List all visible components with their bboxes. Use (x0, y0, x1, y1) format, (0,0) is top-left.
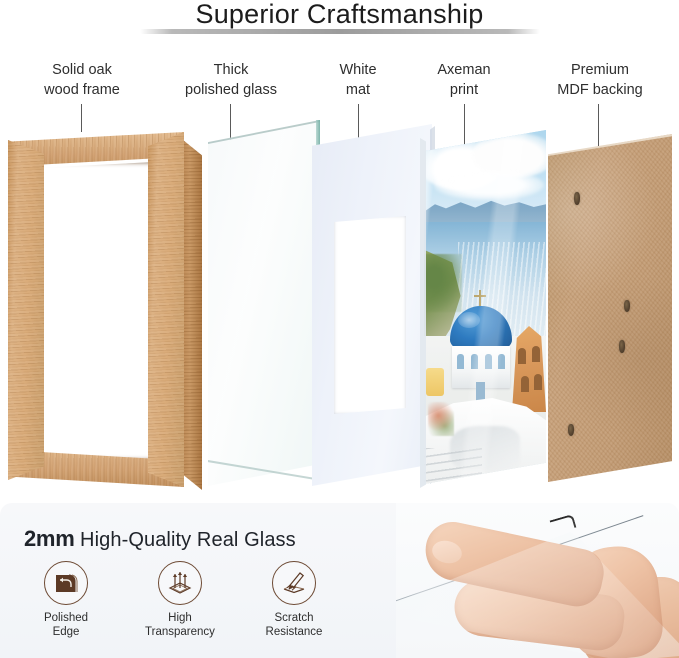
photo-bell-window (518, 348, 526, 364)
mdf-hanging-hardware (619, 340, 625, 353)
photo-cross (474, 295, 486, 297)
photo-bell-window (521, 376, 529, 392)
photo-flowers (428, 402, 454, 436)
mdf-hanging-hardware (624, 300, 630, 312)
layer-axeman-print (424, 130, 546, 484)
photo-bell-tower (512, 326, 546, 412)
feature-label: Scratch Resistance (252, 611, 336, 639)
glass-quality-panel: 2mm High-Quality Real Glass Polished Edg… (0, 503, 679, 658)
polished-edge-icon (44, 561, 88, 605)
print-photo (424, 130, 546, 484)
photo-vegetation (424, 254, 462, 312)
layer-polished-glass (208, 120, 320, 486)
callout-line-1: White (339, 62, 376, 78)
layer-white-mat (312, 124, 432, 486)
photo-church-window (498, 354, 505, 369)
photo-yellow-wall (426, 368, 444, 396)
feature-label-line-2: Edge (53, 626, 80, 638)
callout-line-1: Solid oak (52, 62, 112, 78)
high-transparency-icon (158, 561, 202, 605)
feature-label: High Transparency (138, 611, 222, 639)
glass-feature-list: Polished Edge High Transparency (24, 561, 336, 639)
photo-bell-window (532, 346, 540, 362)
layer-mdf-backing (548, 134, 672, 482)
callout-line-2: polished glass (156, 80, 306, 100)
callout-line-1: Premium (571, 62, 629, 78)
feature-label-line-2: Resistance (266, 626, 323, 638)
frame-stile-right (148, 132, 184, 487)
feature-label-line-1: Scratch (275, 612, 314, 624)
feature-label-line-1: Polished (44, 612, 88, 624)
exploded-frame-diagram (0, 110, 679, 495)
photo-dome-highlight (458, 312, 480, 328)
mdf-board (548, 134, 672, 482)
header: Superior Craftsmanship (0, 0, 679, 44)
scratch-resistance-icon (272, 561, 316, 605)
glass-headline: 2mm High-Quality Real Glass (24, 527, 296, 552)
photo-church-window (457, 354, 464, 369)
callout-line-1: Thick (214, 62, 249, 78)
callout-solid-oak-wood-frame: Solid oak wood frame (14, 60, 150, 100)
hand-holding-glass-photo (396, 503, 679, 658)
feature-label-line-2: Transparency (145, 626, 215, 638)
callout-line-2: wood frame (14, 80, 150, 100)
feature-label-line-1: High (168, 612, 192, 624)
mat-window-cutout (334, 216, 406, 414)
callout-line-2: print (418, 80, 510, 100)
mdf-hanging-hardware (568, 424, 574, 436)
photo-bell-window (534, 374, 542, 390)
callout-thick-polished-glass: Thick polished glass (156, 60, 306, 100)
frame-opening (36, 162, 154, 460)
callout-line-2: mat (312, 80, 404, 100)
feature-label: Polished Edge (24, 611, 108, 639)
feature-high-transparency: High Transparency (138, 561, 222, 639)
callout-premium-mdf-backing: Premium MDF backing (536, 60, 664, 100)
callout-line-1: Axeman (437, 62, 490, 78)
glass-thickness-value: 2mm (24, 526, 74, 551)
callout-axeman-print: Axeman print (418, 60, 510, 100)
mdf-hanging-hardware (574, 192, 580, 205)
glass-headline-text: High-Quality Real Glass (80, 529, 296, 551)
photo-church-window (485, 354, 492, 369)
page-title: Superior Craftsmanship (0, 0, 679, 30)
frame-stile-left (8, 140, 44, 480)
photo-cloud (434, 170, 544, 200)
glass-pane (208, 120, 320, 486)
photo-church-window (471, 354, 478, 369)
print-left-edge (420, 138, 426, 488)
feature-polished-edge: Polished Edge (24, 561, 108, 639)
photo-steps (424, 448, 482, 484)
feature-scratch-resistance: Scratch Resistance (252, 561, 336, 639)
callout-line-2: MDF backing (536, 80, 664, 100)
layer-oak-wood-frame (8, 132, 204, 487)
callout-white-mat: White mat (312, 60, 404, 100)
